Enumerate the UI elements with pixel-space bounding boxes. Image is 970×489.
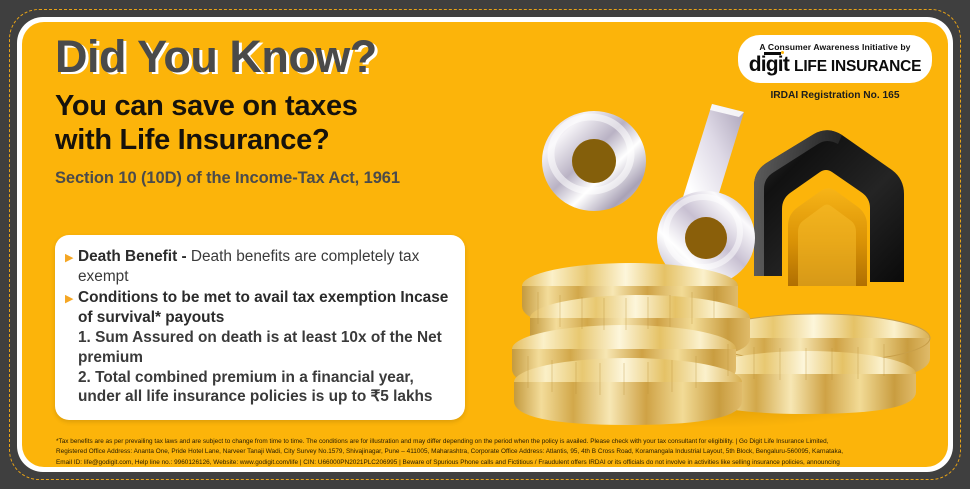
disclaimer-block: *Tax benefits are as per prevailing tax … [44,437,948,467]
percent-house-coins-illustration [498,86,948,431]
logo-wordmark-row: digit LIFE INSURANCE [748,54,922,75]
brand-logo-lockup: A Consumer Awareness Initiative by digit… [738,35,932,101]
life-insurance-wordmark: LIFE INSURANCE [794,59,921,75]
disclaimer-line: Registered Office Address: Ananta One, P… [56,447,948,457]
section-reference: Section 10 (10D) of the Income-Tax Act, … [55,169,495,188]
poster-canvas: Did You Know? You can save on taxes with… [22,22,948,467]
bullet-lead-conditions: Conditions to be met to avail tax exempt… [78,289,396,306]
disclaimer-line: *Tax benefits are as per prevailing tax … [56,437,948,447]
digit-wordmark-text: digit [749,53,789,76]
benefits-card: ▶ Death Benefit - Death benefits are com… [55,235,465,420]
triangle-right-icon: ▶ [65,247,78,264]
subheadline-line-1: You can save on taxes [55,89,495,123]
digit-overbar-icon [764,52,781,55]
coin-stack-icon [512,263,930,425]
bullet-item-conditions: ▶ Conditions to be met to avail tax exem… [65,288,451,329]
subheadline-line-2: with Life Insurance? [55,123,495,157]
house-icon [754,130,904,286]
condition-item-2: 2. Total combined premium in a financial… [65,368,451,407]
hero-artwork [498,86,948,431]
bullet-lead-death-benefit: Death Benefit - [78,248,191,265]
digit-wordmark: digit [749,54,789,75]
percent-symbol-icon [542,104,755,285]
copy-column: Did You Know? You can save on taxes with… [55,34,495,188]
bullet-item-death-benefit: ▶ Death Benefit - Death benefits are com… [65,247,451,288]
page-title: Did You Know? [55,34,495,79]
disclaimer-line: Email ID: life@godigit.com, Help line no… [56,458,948,467]
logo-tagline: A Consumer Awareness Initiative by [748,42,922,52]
triangle-right-icon: ▶ [65,288,78,305]
condition-item-1: 1. Sum Assured on death is at least 10x … [65,328,451,367]
logo-pill: A Consumer Awareness Initiative by digit… [738,35,932,83]
irdai-registration: IRDAI Registration No. 165 [738,90,932,101]
advertisement-frame: Did You Know? You can save on taxes with… [0,0,970,489]
